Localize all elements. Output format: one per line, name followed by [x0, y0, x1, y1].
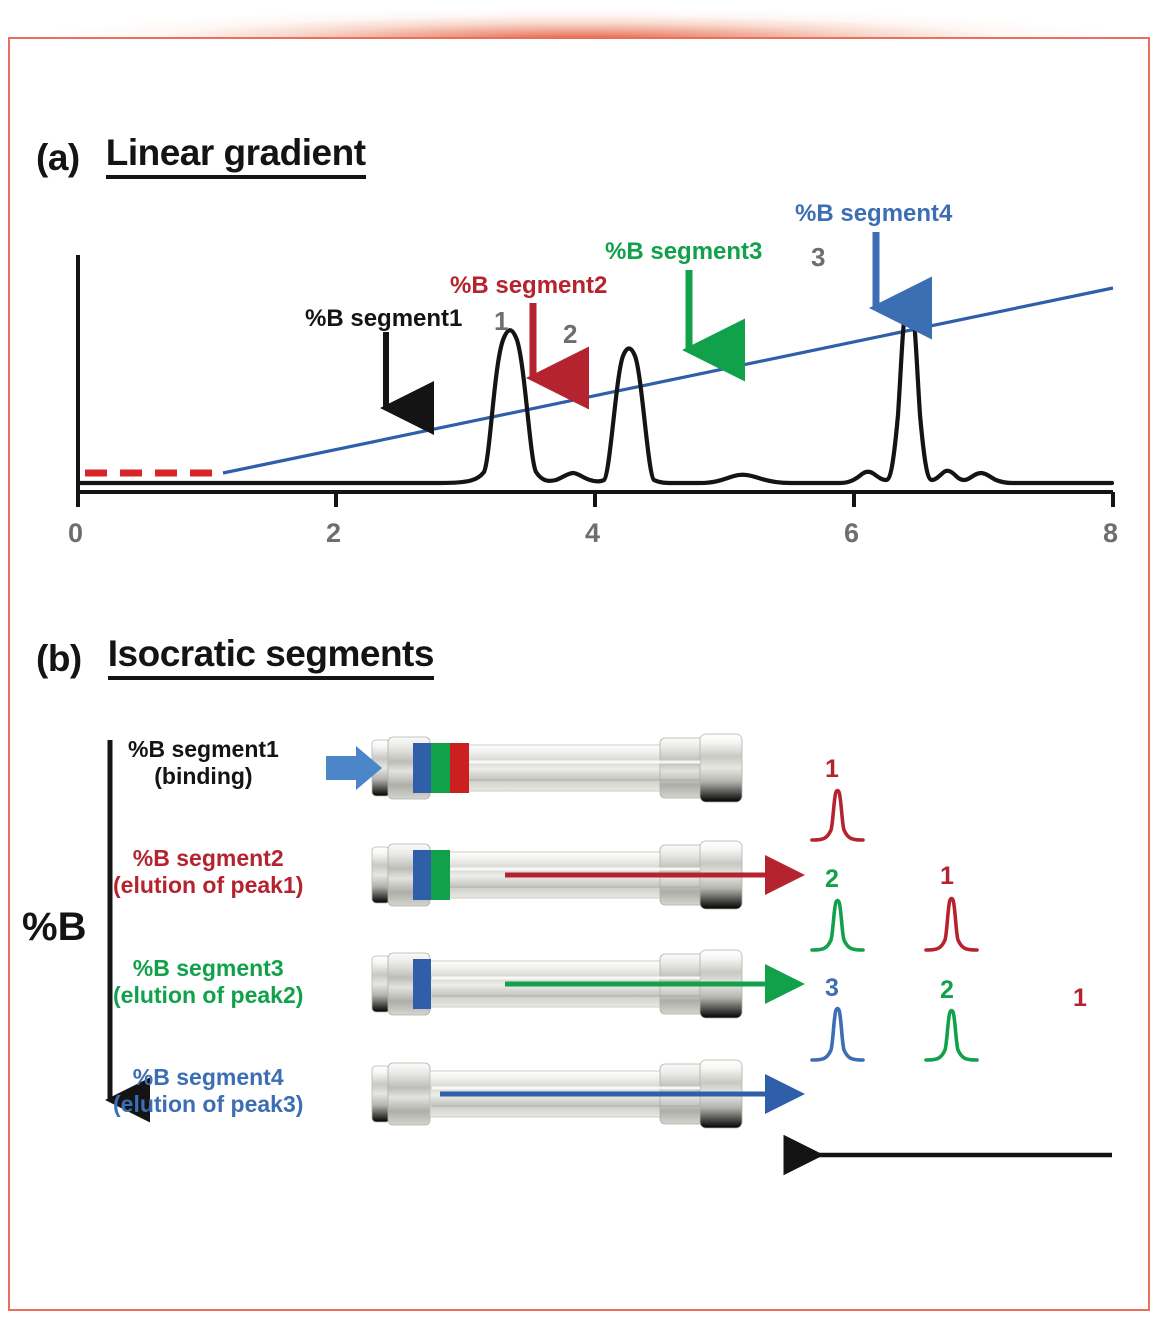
- peak-row3-2: [812, 901, 863, 951]
- top-gradient-decoration: [0, 0, 1160, 42]
- x-tick-label-4: 4: [585, 518, 600, 549]
- row-label-1-line1: %B segment1: [128, 736, 279, 762]
- row-label-1-line2: (binding): [154, 763, 252, 789]
- peak-num-row2-1: 1: [825, 755, 839, 784]
- peak-num-row4-3: 3: [825, 974, 839, 1003]
- row-label-2-line2: (elution of peak1): [113, 872, 303, 898]
- peak-row3-1: [926, 899, 977, 951]
- peak-row4-3: [812, 1009, 863, 1061]
- row-label-3-line1: %B segment3: [133, 955, 284, 981]
- panel-b-title: Isocratic segments: [108, 633, 434, 680]
- row-label-1: %B segment1 (binding): [128, 736, 279, 790]
- peak-num-row3-1: 1: [940, 862, 954, 891]
- panel-a-annotation-arrows: [0, 180, 1160, 560]
- peak-label-3: 3: [811, 242, 825, 273]
- column-row-1: [372, 734, 742, 802]
- row-label-2: %B segment2 (elution of peak1): [113, 845, 303, 899]
- panel-a-heading: (a) Linear gradient: [36, 132, 366, 179]
- row-label-2-line1: %B segment2: [133, 845, 284, 871]
- band-blue-row1: [413, 743, 431, 793]
- row-label-3: %B segment3 (elution of peak2): [113, 955, 303, 1009]
- peak-num-row4-2: 2: [940, 976, 954, 1005]
- figure-page: (a) Linear gradient: [0, 0, 1160, 1322]
- x-tick-label-6: 6: [844, 518, 859, 549]
- band-blue-row2: [413, 850, 431, 900]
- peak-num-row4-1: 1: [1073, 984, 1087, 1013]
- band-red-row1: [450, 743, 469, 793]
- panel-a-title: Linear gradient: [106, 132, 366, 179]
- band-green-row2: [431, 850, 450, 900]
- row-label-4-line1: %B segment4: [133, 1064, 284, 1090]
- segment2-label: %B segment2: [450, 272, 607, 300]
- row-label-4-line2: (elution of peak3): [113, 1091, 303, 1117]
- peak-num-row3-2: 2: [825, 865, 839, 894]
- panel-b-heading: (b) Isocratic segments: [36, 633, 434, 680]
- x-tick-label-0: 0: [68, 518, 83, 549]
- peak-label-1: 1: [494, 306, 508, 337]
- band-blue-row3: [413, 959, 431, 1009]
- x-tick-label-8: 8: [1103, 518, 1118, 549]
- isocratic-segments-diagram: %B segment1 (binding) %B segment2 (eluti…: [0, 700, 1160, 1220]
- peak-label-2: 2: [563, 319, 577, 350]
- segment3-label: %B segment3: [605, 238, 762, 266]
- x-tick-label-2: 2: [326, 518, 341, 549]
- panel-a-tag: (a): [36, 137, 80, 179]
- row-label-3-line2: (elution of peak2): [113, 982, 303, 1008]
- peak-row4-2: [926, 1011, 977, 1061]
- linear-gradient-chart: %B segment1 %B segment2 %B segment3 %B s…: [0, 180, 1160, 560]
- row-label-4: %B segment4 (elution of peak3): [113, 1064, 303, 1118]
- segment1-label: %B segment1: [305, 305, 462, 333]
- peak-row2-1: [812, 791, 863, 841]
- panel-b-tag: (b): [36, 638, 82, 680]
- band-green-row1: [431, 743, 450, 793]
- segment4-label: %B segment4: [795, 200, 952, 228]
